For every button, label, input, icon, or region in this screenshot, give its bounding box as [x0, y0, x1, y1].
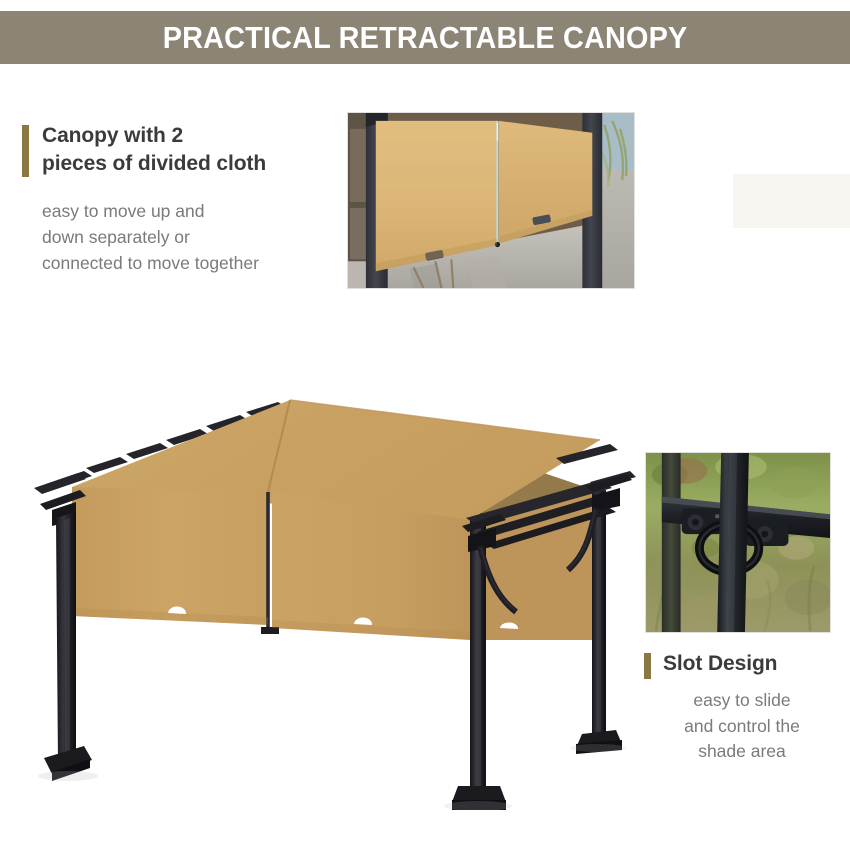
feature-block-canopy: Canopy with 2 pieces of divided cloth ea…	[22, 122, 332, 277]
feature-title-slot-design: Slot Design	[663, 650, 777, 678]
feature-title-line-2: pieces of divided cloth	[42, 150, 266, 178]
feature-block-slot-design: Slot Design easy to slide and control th…	[638, 650, 846, 765]
ground-shadow	[570, 744, 626, 752]
feature-heading-slot-design: Slot Design	[638, 650, 846, 679]
feature-body-line-2: down separately or	[42, 225, 332, 251]
feature-heading-canopy: Canopy with 2 pieces of divided cloth	[22, 122, 332, 177]
post-highlight	[64, 518, 70, 758]
feature-title-line-1: Canopy with 2	[42, 122, 266, 150]
ground-shadow	[38, 771, 98, 781]
pergola-product-render	[0, 340, 650, 810]
feature-body-line-2: and control the	[638, 714, 846, 740]
pergola-illustration	[0, 340, 650, 810]
feature-body-line-3: connected to move together	[42, 251, 332, 277]
feature-body-slot-design: easy to slide and control the shade area	[638, 688, 846, 765]
feature-body-line-1: easy to move up and	[42, 199, 332, 225]
slot-detail-illustration	[646, 453, 830, 632]
canopy-detail-illustration	[348, 113, 634, 288]
decorative-panel	[733, 174, 850, 228]
slot-detail-photo	[645, 452, 831, 633]
page-title: PRACTICAL RETRACTABLE CANOPY	[163, 20, 688, 56]
canopy-detail-photo	[347, 112, 635, 289]
post-highlight	[476, 524, 481, 786]
feature-body-line-3: shade area	[638, 739, 846, 765]
header-banner: PRACTICAL RETRACTABLE CANOPY	[0, 11, 850, 64]
feature-body-line-1: easy to slide	[638, 688, 846, 714]
canopy-panel-left	[72, 487, 268, 625]
accent-bar-icon	[22, 125, 29, 177]
feature-title-canopy: Canopy with 2 pieces of divided cloth	[42, 122, 266, 177]
feature-body-canopy: easy to move up and down separately or c…	[42, 199, 332, 276]
background-post	[662, 453, 681, 632]
post-foot-right-front	[452, 786, 506, 802]
